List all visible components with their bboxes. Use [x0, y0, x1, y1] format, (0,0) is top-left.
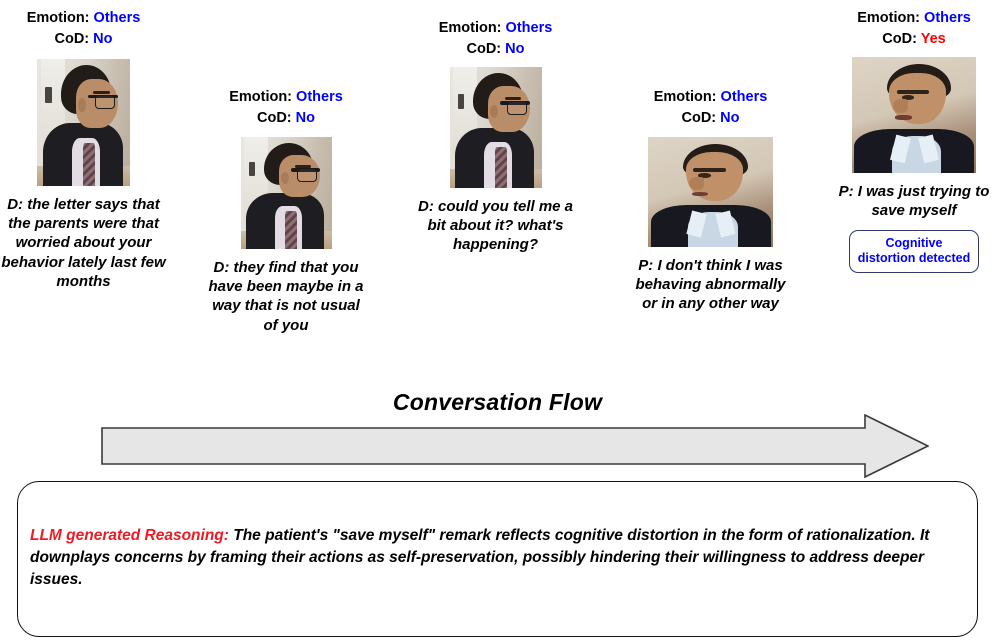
turn-4-utterance: P: I don't think I was behaving abnormal… — [628, 256, 793, 314]
turn-3-utterance: D: could you tell me a bit about it? wha… — [414, 197, 577, 255]
turn-2-cod-value: No — [296, 110, 315, 126]
turn-4-emotion-label: Emotion: — [654, 89, 717, 105]
llm-reasoning-label: LLM generated Reasoning: — [30, 527, 229, 544]
turn-3-annotations: Emotion: Others CoD: No — [414, 18, 577, 60]
turn-5-cod-value: Yes — [921, 31, 946, 47]
turn-2-emotion-line: Emotion: Others — [205, 87, 367, 108]
turn-1-emotion-label: Emotion: — [27, 10, 90, 26]
turn-4-cod-line: CoD: No — [628, 108, 793, 129]
turn-4-cod-value: No — [720, 110, 739, 126]
turn-3-emotion-line: Emotion: Others — [414, 18, 577, 39]
turn-3-speaker-photo — [450, 67, 542, 188]
turn-2-emotion-value: Others — [296, 89, 343, 105]
turn-2-cod-line: CoD: No — [205, 108, 367, 129]
turn-4-emotion-line: Emotion: Others — [628, 87, 793, 108]
conversation-flow-arrow-icon — [101, 414, 929, 478]
turn-4-annotations: Emotion: Others CoD: No — [628, 87, 793, 129]
turn-5-emotion-line: Emotion: Others — [833, 8, 995, 29]
turn-1-emotion-line: Emotion: Others — [0, 8, 167, 29]
turn-5-cod-label: CoD: — [882, 31, 917, 47]
llm-reasoning-text: LLM generated Reasoning: The patient's "… — [30, 525, 960, 591]
turn-2-annotations: Emotion: Others CoD: No — [205, 87, 367, 129]
conversation-turn-4: Emotion: Others CoD: No P: I don't think… — [628, 87, 793, 314]
turn-5-utterance: P: I was just trying to save myself — [833, 182, 995, 220]
conversation-turn-3: Emotion: Others CoD: No D: could you tel… — [414, 18, 577, 255]
turn-5-annotations: Emotion: Others CoD: Yes — [833, 8, 995, 50]
turn-1-speaker-photo — [37, 59, 130, 186]
turn-2-utterance: D: they find that you have been maybe in… — [205, 258, 367, 335]
llm-reasoning-box: LLM generated Reasoning: The patient's "… — [17, 481, 978, 637]
turn-2-emotion-label: Emotion: — [229, 89, 292, 105]
turn-3-cod-value: No — [505, 41, 524, 57]
turn-1-emotion-value: Others — [94, 10, 141, 26]
conversation-turn-5: Emotion: Others CoD: Yes P: I was just t… — [833, 8, 995, 273]
flow-title: Conversation Flow — [0, 389, 995, 416]
turn-5-cod-line: CoD: Yes — [833, 29, 995, 50]
turn-1-cod-value: No — [93, 31, 112, 47]
turn-5-speaker-photo — [852, 57, 976, 173]
turn-2-speaker-photo — [241, 137, 332, 249]
turn-3-cod-label: CoD: — [466, 41, 501, 57]
turn-1-cod-label: CoD: — [54, 31, 89, 47]
turn-4-emotion-value: Others — [721, 89, 768, 105]
status-badge-cognitive-distortion[interactable]: Cognitive distortion detected — [849, 230, 979, 273]
figure-canvas: Emotion: Others CoD: No D: the letter sa… — [0, 0, 995, 644]
turn-3-cod-line: CoD: No — [414, 39, 577, 60]
turn-2-cod-label: CoD: — [257, 110, 292, 126]
turn-3-emotion-value: Others — [506, 20, 553, 36]
turn-1-annotations: Emotion: Others CoD: No — [0, 8, 167, 50]
turn-4-cod-label: CoD: — [681, 110, 716, 126]
turn-1-utterance: D: the letter says that the parents were… — [0, 195, 167, 291]
turn-3-emotion-label: Emotion: — [439, 20, 502, 36]
conversation-turn-2: Emotion: Others CoD: No D: they find tha… — [205, 87, 367, 335]
conversation-turn-1: Emotion: Others CoD: No D: the letter sa… — [0, 8, 167, 291]
turn-5-emotion-label: Emotion: — [857, 10, 920, 26]
turn-1-cod-line: CoD: No — [0, 29, 167, 50]
turn-5-emotion-value: Others — [924, 10, 971, 26]
turn-4-speaker-photo — [648, 137, 773, 247]
